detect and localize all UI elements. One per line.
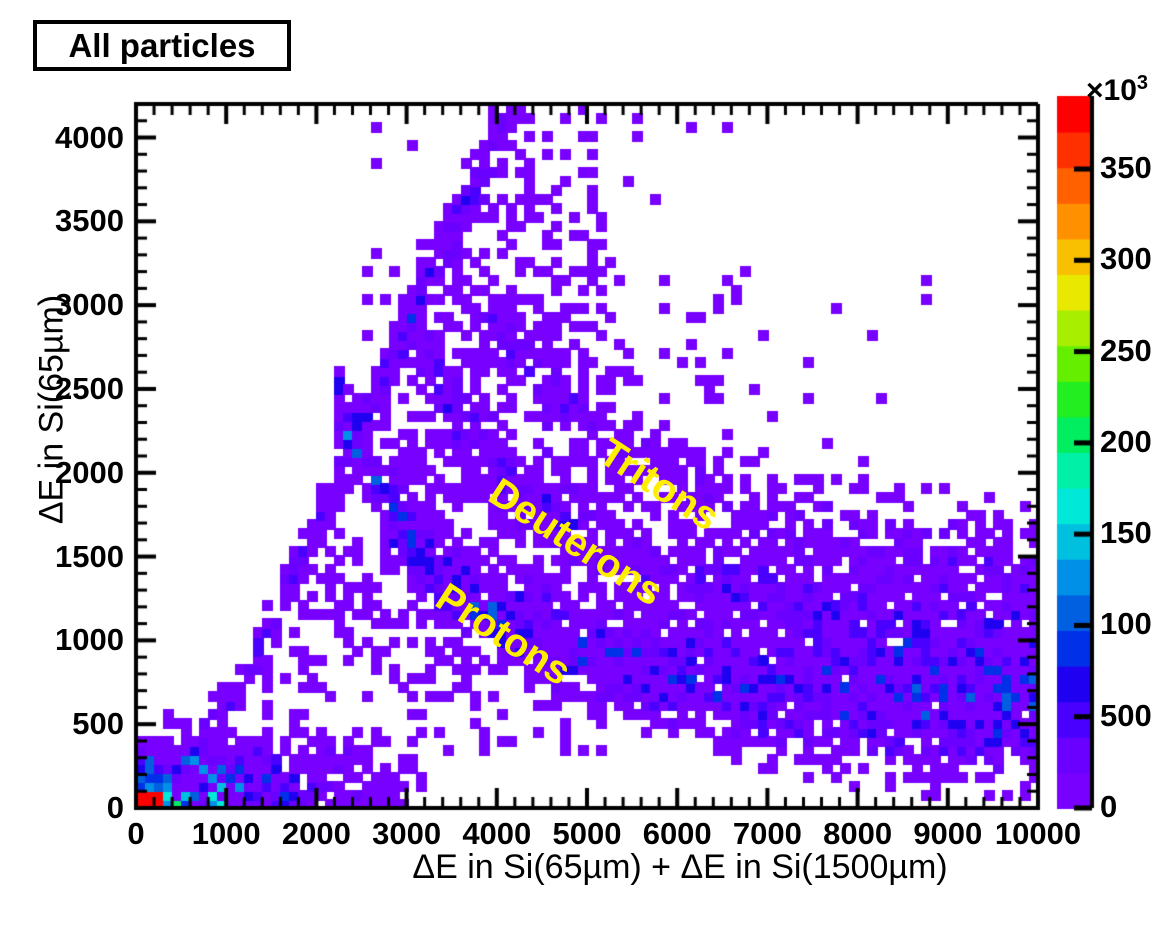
y-tick-label-1000: 1000 <box>4 622 124 658</box>
x-tick-label-10000: 10000 <box>978 816 1098 852</box>
colorbar-tick-label-6: 300 <box>1100 241 1164 277</box>
colorbar-tick-label-3: 150 <box>1100 515 1164 551</box>
y-tick-label-4000: 4000 <box>4 120 124 156</box>
plot-title-text: All particles <box>68 29 255 62</box>
y-tick-label-3000: 3000 <box>4 287 124 323</box>
y-tick-label-2000: 2000 <box>4 455 124 491</box>
colorbar-tick-label-2: 100 <box>1100 606 1164 642</box>
y-tick-label-2500: 2500 <box>4 371 124 407</box>
colorbar-tick-label-4: 200 <box>1100 424 1164 460</box>
plot-title-box: All particles <box>33 20 291 71</box>
y-tick-label-3500: 3500 <box>4 203 124 239</box>
y-tick-label-1500: 1500 <box>4 539 124 575</box>
colorbar-exponent-power: 3 <box>1137 72 1148 94</box>
colorbar-tick-label-0: 0 <box>1100 789 1164 825</box>
colorbar-tick-label-5: 250 <box>1100 333 1164 369</box>
scatter-heatmap-canvas <box>0 0 1164 927</box>
colorbar-tick-label-1: 500 <box>1100 698 1164 734</box>
colorbar-exponent: ×103 <box>1086 72 1148 108</box>
colorbar-exponent-base: ×10 <box>1086 74 1137 107</box>
x-axis-title: ΔE in Si(65µm) + ΔE in Si(1500µm) <box>210 848 1150 887</box>
y-tick-label-500: 500 <box>4 706 124 742</box>
colorbar-tick-label-7: 350 <box>1100 150 1164 186</box>
